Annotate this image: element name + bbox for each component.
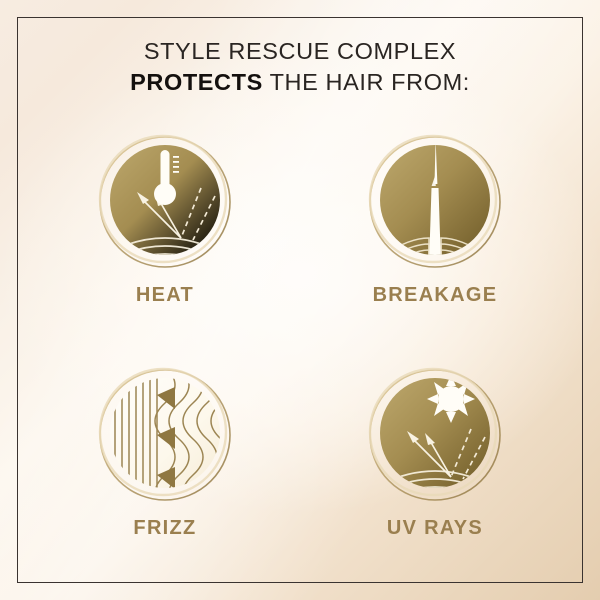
benefit-tile-breakage[interactable]: BREAKAGE bbox=[359, 126, 511, 307]
breakage-badge bbox=[359, 126, 511, 278]
benefit-row-bottom: FRIZZ bbox=[0, 359, 600, 540]
tile-label-frizz: FRIZZ bbox=[133, 517, 196, 540]
tile-label-heat: HEAT bbox=[136, 284, 194, 307]
uv-rays-badge bbox=[359, 359, 511, 511]
tile-label-breakage: BREAKAGE bbox=[373, 284, 498, 307]
benefit-tile-frizz[interactable]: FRIZZ bbox=[89, 359, 241, 540]
benefit-row-top: HEAT bbox=[0, 126, 600, 307]
headline-line-2: PROTECTS THE HAIR FROM: bbox=[0, 67, 600, 98]
promo-poster: STYLE RESCUE COMPLEX PROTECTS THE HAIR F… bbox=[0, 0, 600, 600]
uv-rays-sun-icon bbox=[359, 359, 511, 511]
tile-label-uv-rays: UV RAYS bbox=[387, 517, 483, 540]
benefit-tile-uv-rays[interactable]: UV RAYS bbox=[359, 359, 511, 540]
benefit-tile-heat[interactable]: HEAT bbox=[89, 126, 241, 307]
headline-emphasis: PROTECTS bbox=[130, 69, 263, 95]
heat-badge bbox=[89, 126, 241, 278]
heat-thermometer-icon bbox=[89, 126, 241, 278]
frizz-badge bbox=[89, 359, 241, 511]
headline-line-1: STYLE RESCUE COMPLEX bbox=[144, 38, 456, 64]
frizz-wave-lines-icon bbox=[89, 359, 241, 511]
headline-line-2-rest: THE HAIR FROM: bbox=[263, 69, 470, 95]
breakage-split-hair-icon bbox=[359, 126, 511, 278]
benefit-grid: HEAT bbox=[0, 126, 600, 540]
page-title: STYLE RESCUE COMPLEX PROTECTS THE HAIR F… bbox=[0, 36, 600, 98]
